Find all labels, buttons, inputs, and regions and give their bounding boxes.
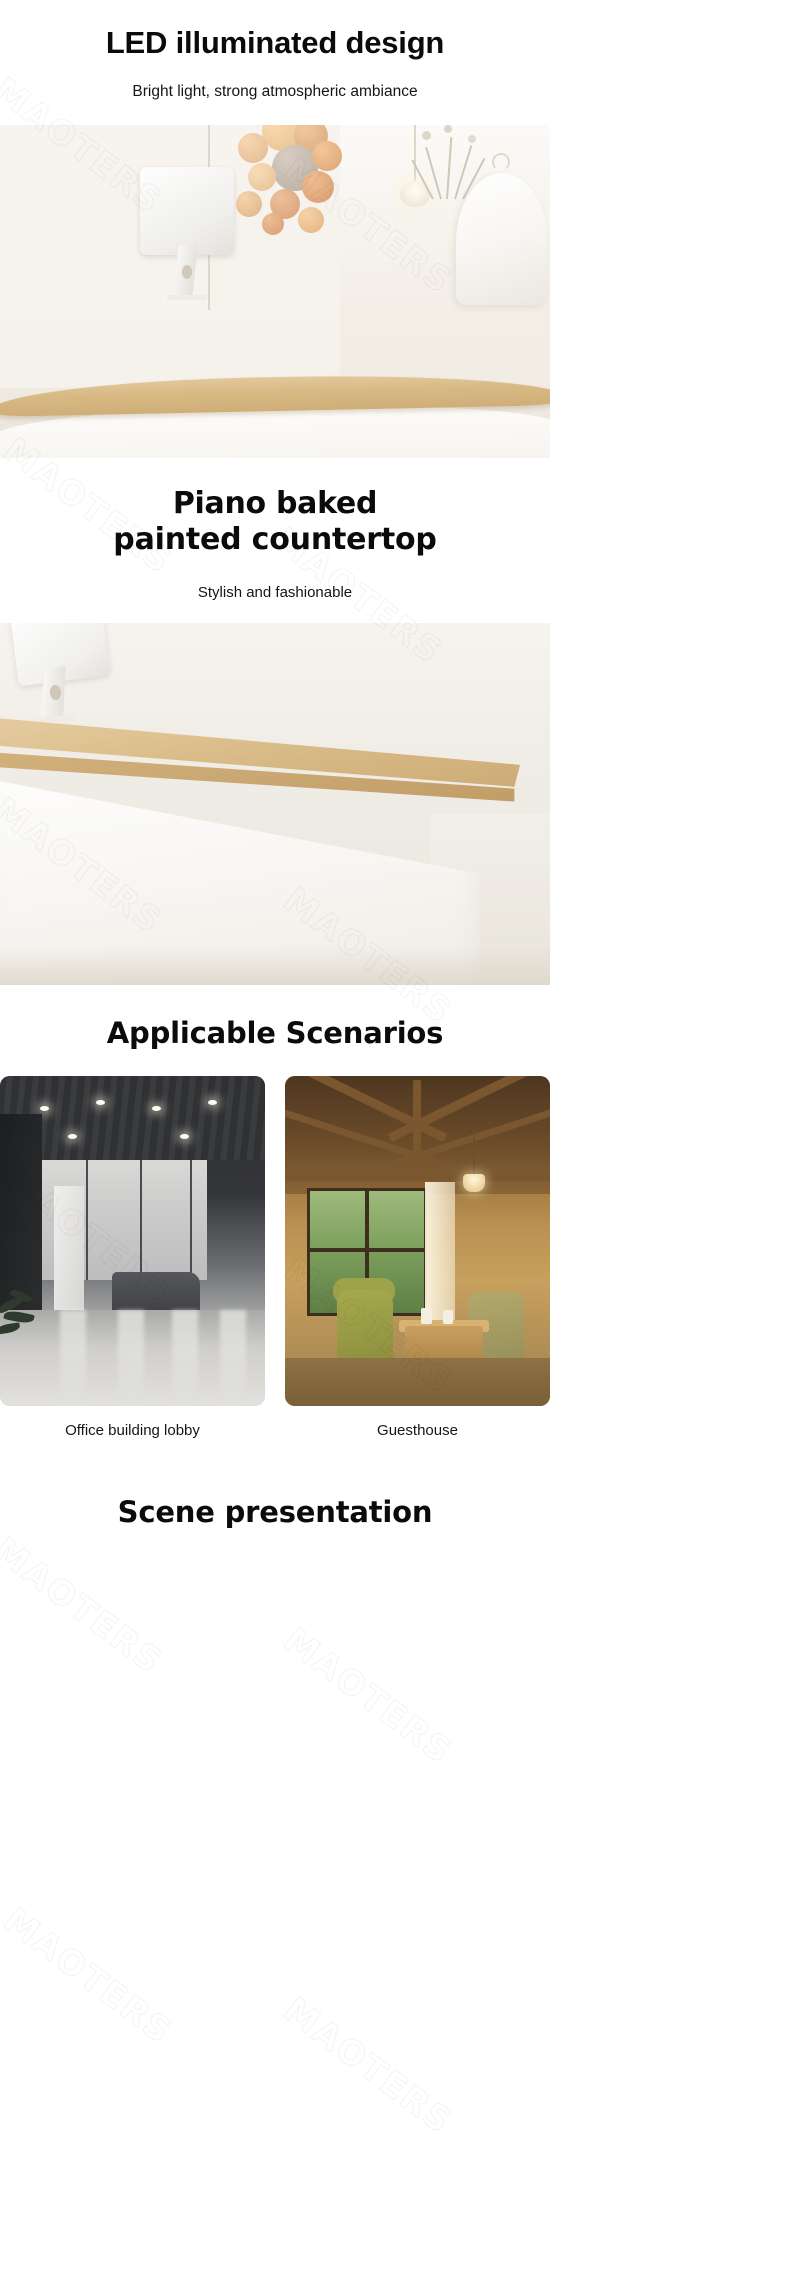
floor-shadow — [0, 945, 550, 985]
monitor-stand-hole — [182, 265, 192, 279]
scenario-card-office-lobby — [0, 1076, 265, 1406]
scenario-card-guesthouse — [285, 1076, 550, 1406]
watermark-text: MAOTERS — [0, 1900, 180, 2052]
countertop-closeup-photo — [0, 623, 550, 985]
piano-section-subtitle: Stylish and fashionable — [0, 559, 550, 601]
piano-section-title-line1: Piano baked — [0, 458, 550, 523]
pendant-light — [463, 1174, 485, 1192]
white-garment — [456, 173, 548, 305]
watermark-text: MAOTERS — [276, 1990, 460, 2142]
armchair-left — [337, 1290, 393, 1362]
scenario-caption-office-lobby: Office building lobby — [0, 1422, 265, 1439]
reception-monitor — [140, 167, 234, 255]
pendant-cord — [473, 1130, 475, 1176]
led-section-subtitle: Bright light, strong atmospheric ambianc… — [0, 61, 550, 101]
piano-section-title-line2: painted countertop — [0, 522, 550, 559]
led-hero-photo — [0, 125, 550, 458]
balloon-arch — [232, 125, 342, 233]
watermark-text: MAOTERS — [0, 1530, 170, 1682]
scene-presentation-title: Scene presentation — [0, 1468, 550, 1529]
white-column — [54, 1186, 84, 1316]
led-section-title: LED illuminated design — [0, 0, 550, 61]
scenario-captions: Office building lobby Guesthouse — [0, 1422, 550, 1468]
content-column: LED illuminated design Bright light, str… — [0, 0, 550, 1530]
monitor-stand-base — [167, 295, 207, 300]
lobby-plant — [0, 1290, 48, 1350]
watermark-text: MAOTERS — [276, 1620, 460, 1772]
clothes-hanger — [492, 153, 510, 171]
scenario-cards-row — [0, 1076, 550, 1406]
product-detail-page: LED illuminated design Bright light, str… — [0, 0, 800, 2290]
wooden-floor — [285, 1358, 550, 1406]
scenarios-section-title: Applicable Scenarios — [0, 985, 550, 1050]
scenario-caption-guesthouse: Guesthouse — [285, 1422, 550, 1439]
